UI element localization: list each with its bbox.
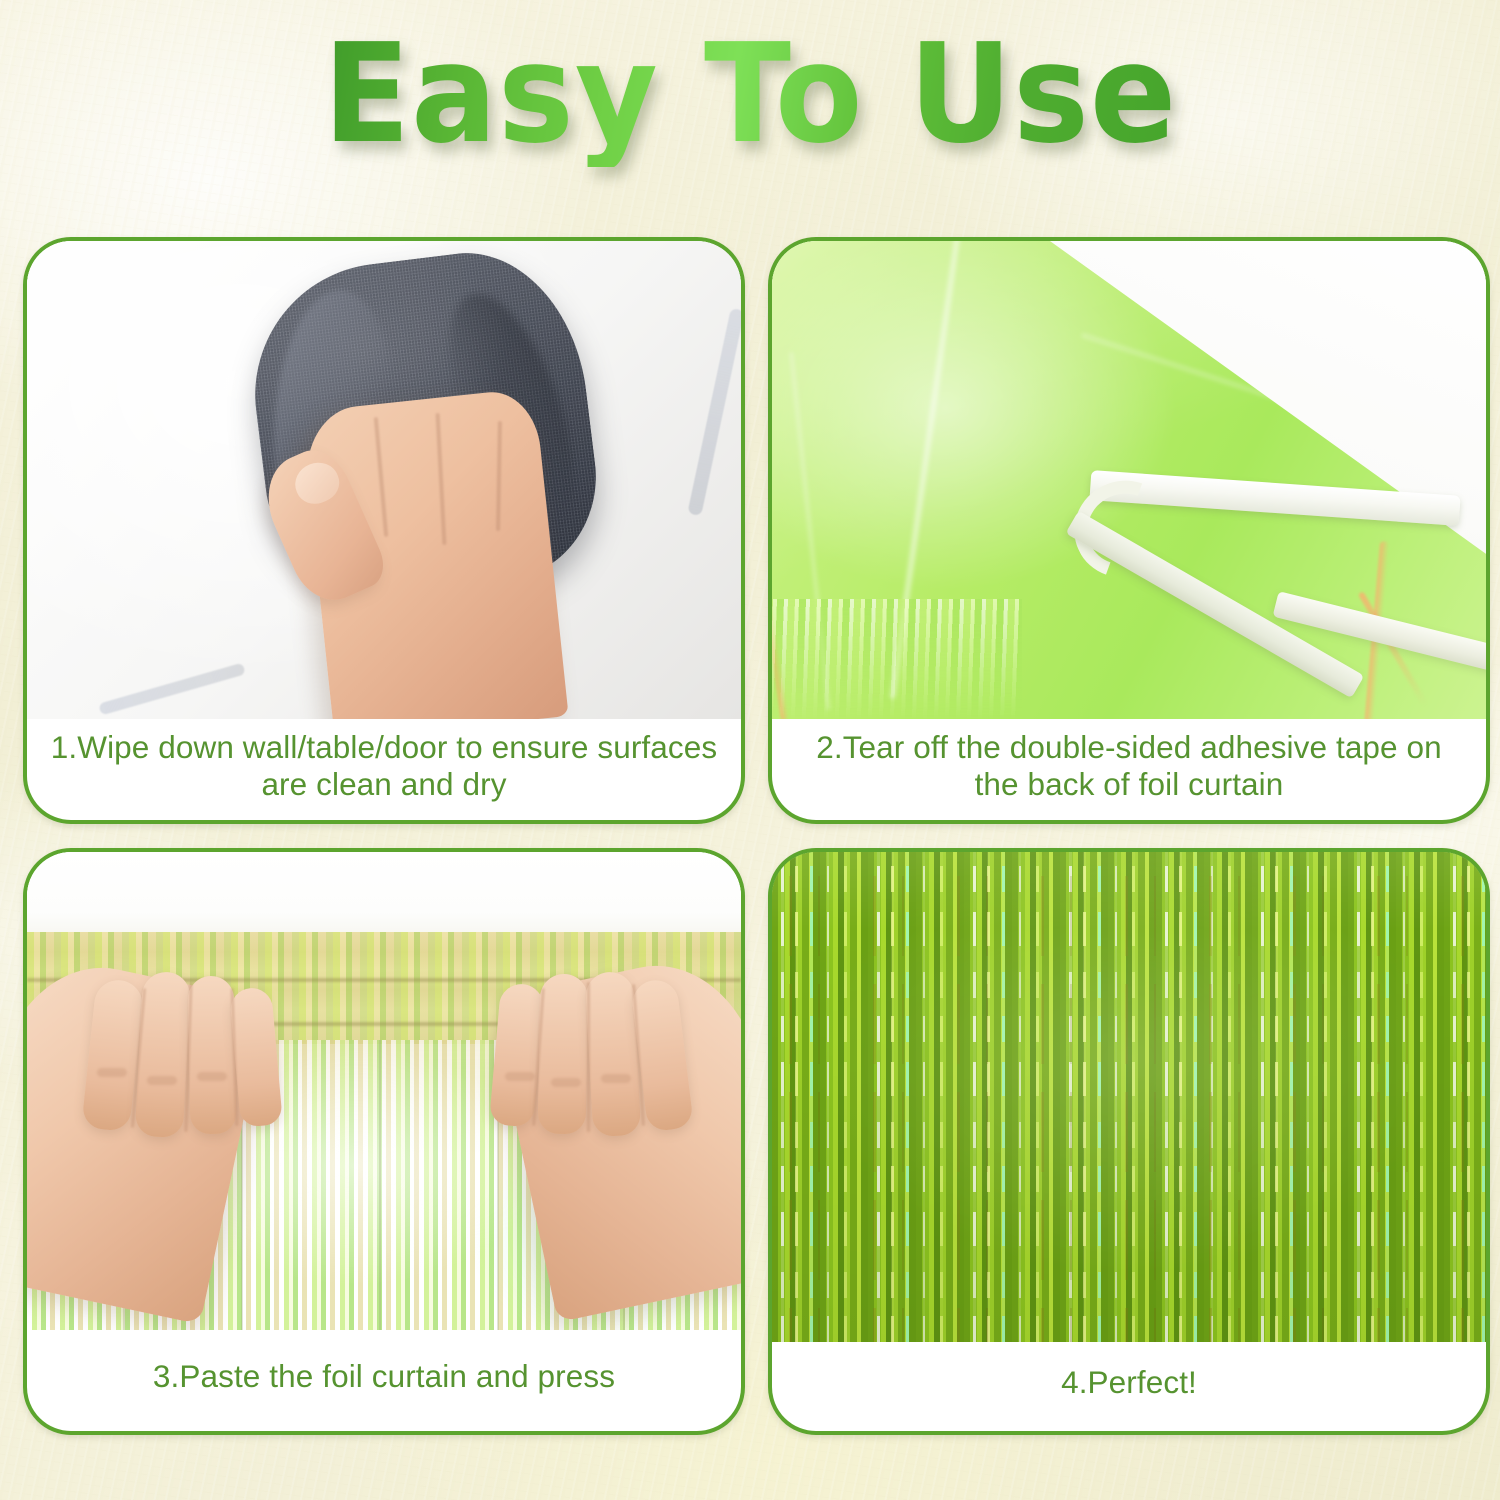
step-card-4[interactable]: 4.Perfect! xyxy=(768,848,1490,1435)
step-1-caption: 1.Wipe down wall/table/door to ensure su… xyxy=(27,719,741,820)
foil-fringe-edge xyxy=(772,599,1022,719)
knuckle-crease xyxy=(505,1072,535,1081)
step-2-photo xyxy=(772,241,1486,719)
step-card-1[interactable]: 1.Wipe down wall/table/door to ensure su… xyxy=(23,237,745,824)
curtain-vignette xyxy=(772,852,1486,1342)
finger xyxy=(538,974,589,1135)
knuckle-crease xyxy=(601,1074,631,1083)
step-card-3[interactable]: 3.Paste the foil curtain and press xyxy=(23,848,745,1435)
step-1-photo xyxy=(27,241,741,719)
page-title: Easy To Use xyxy=(323,22,1177,167)
knuckle-crease xyxy=(551,1078,581,1087)
steps-grid: 1.Wipe down wall/table/door to ensure su… xyxy=(23,237,1490,1437)
finger-separation-line xyxy=(587,982,590,1132)
right-hand-fingers xyxy=(27,852,741,1330)
step-2-caption: 2.Tear off the double-sided adhesive tap… xyxy=(772,719,1486,820)
step-3-caption: 3.Paste the foil curtain and press xyxy=(27,1330,741,1431)
step-card-2[interactable]: 2.Tear off the double-sided adhesive tap… xyxy=(768,237,1490,824)
step-3-photo xyxy=(27,852,741,1330)
title-area: Easy To Use xyxy=(0,22,1500,167)
step-4-caption: 4.Perfect! xyxy=(772,1342,1486,1431)
step-4-photo xyxy=(772,852,1486,1342)
